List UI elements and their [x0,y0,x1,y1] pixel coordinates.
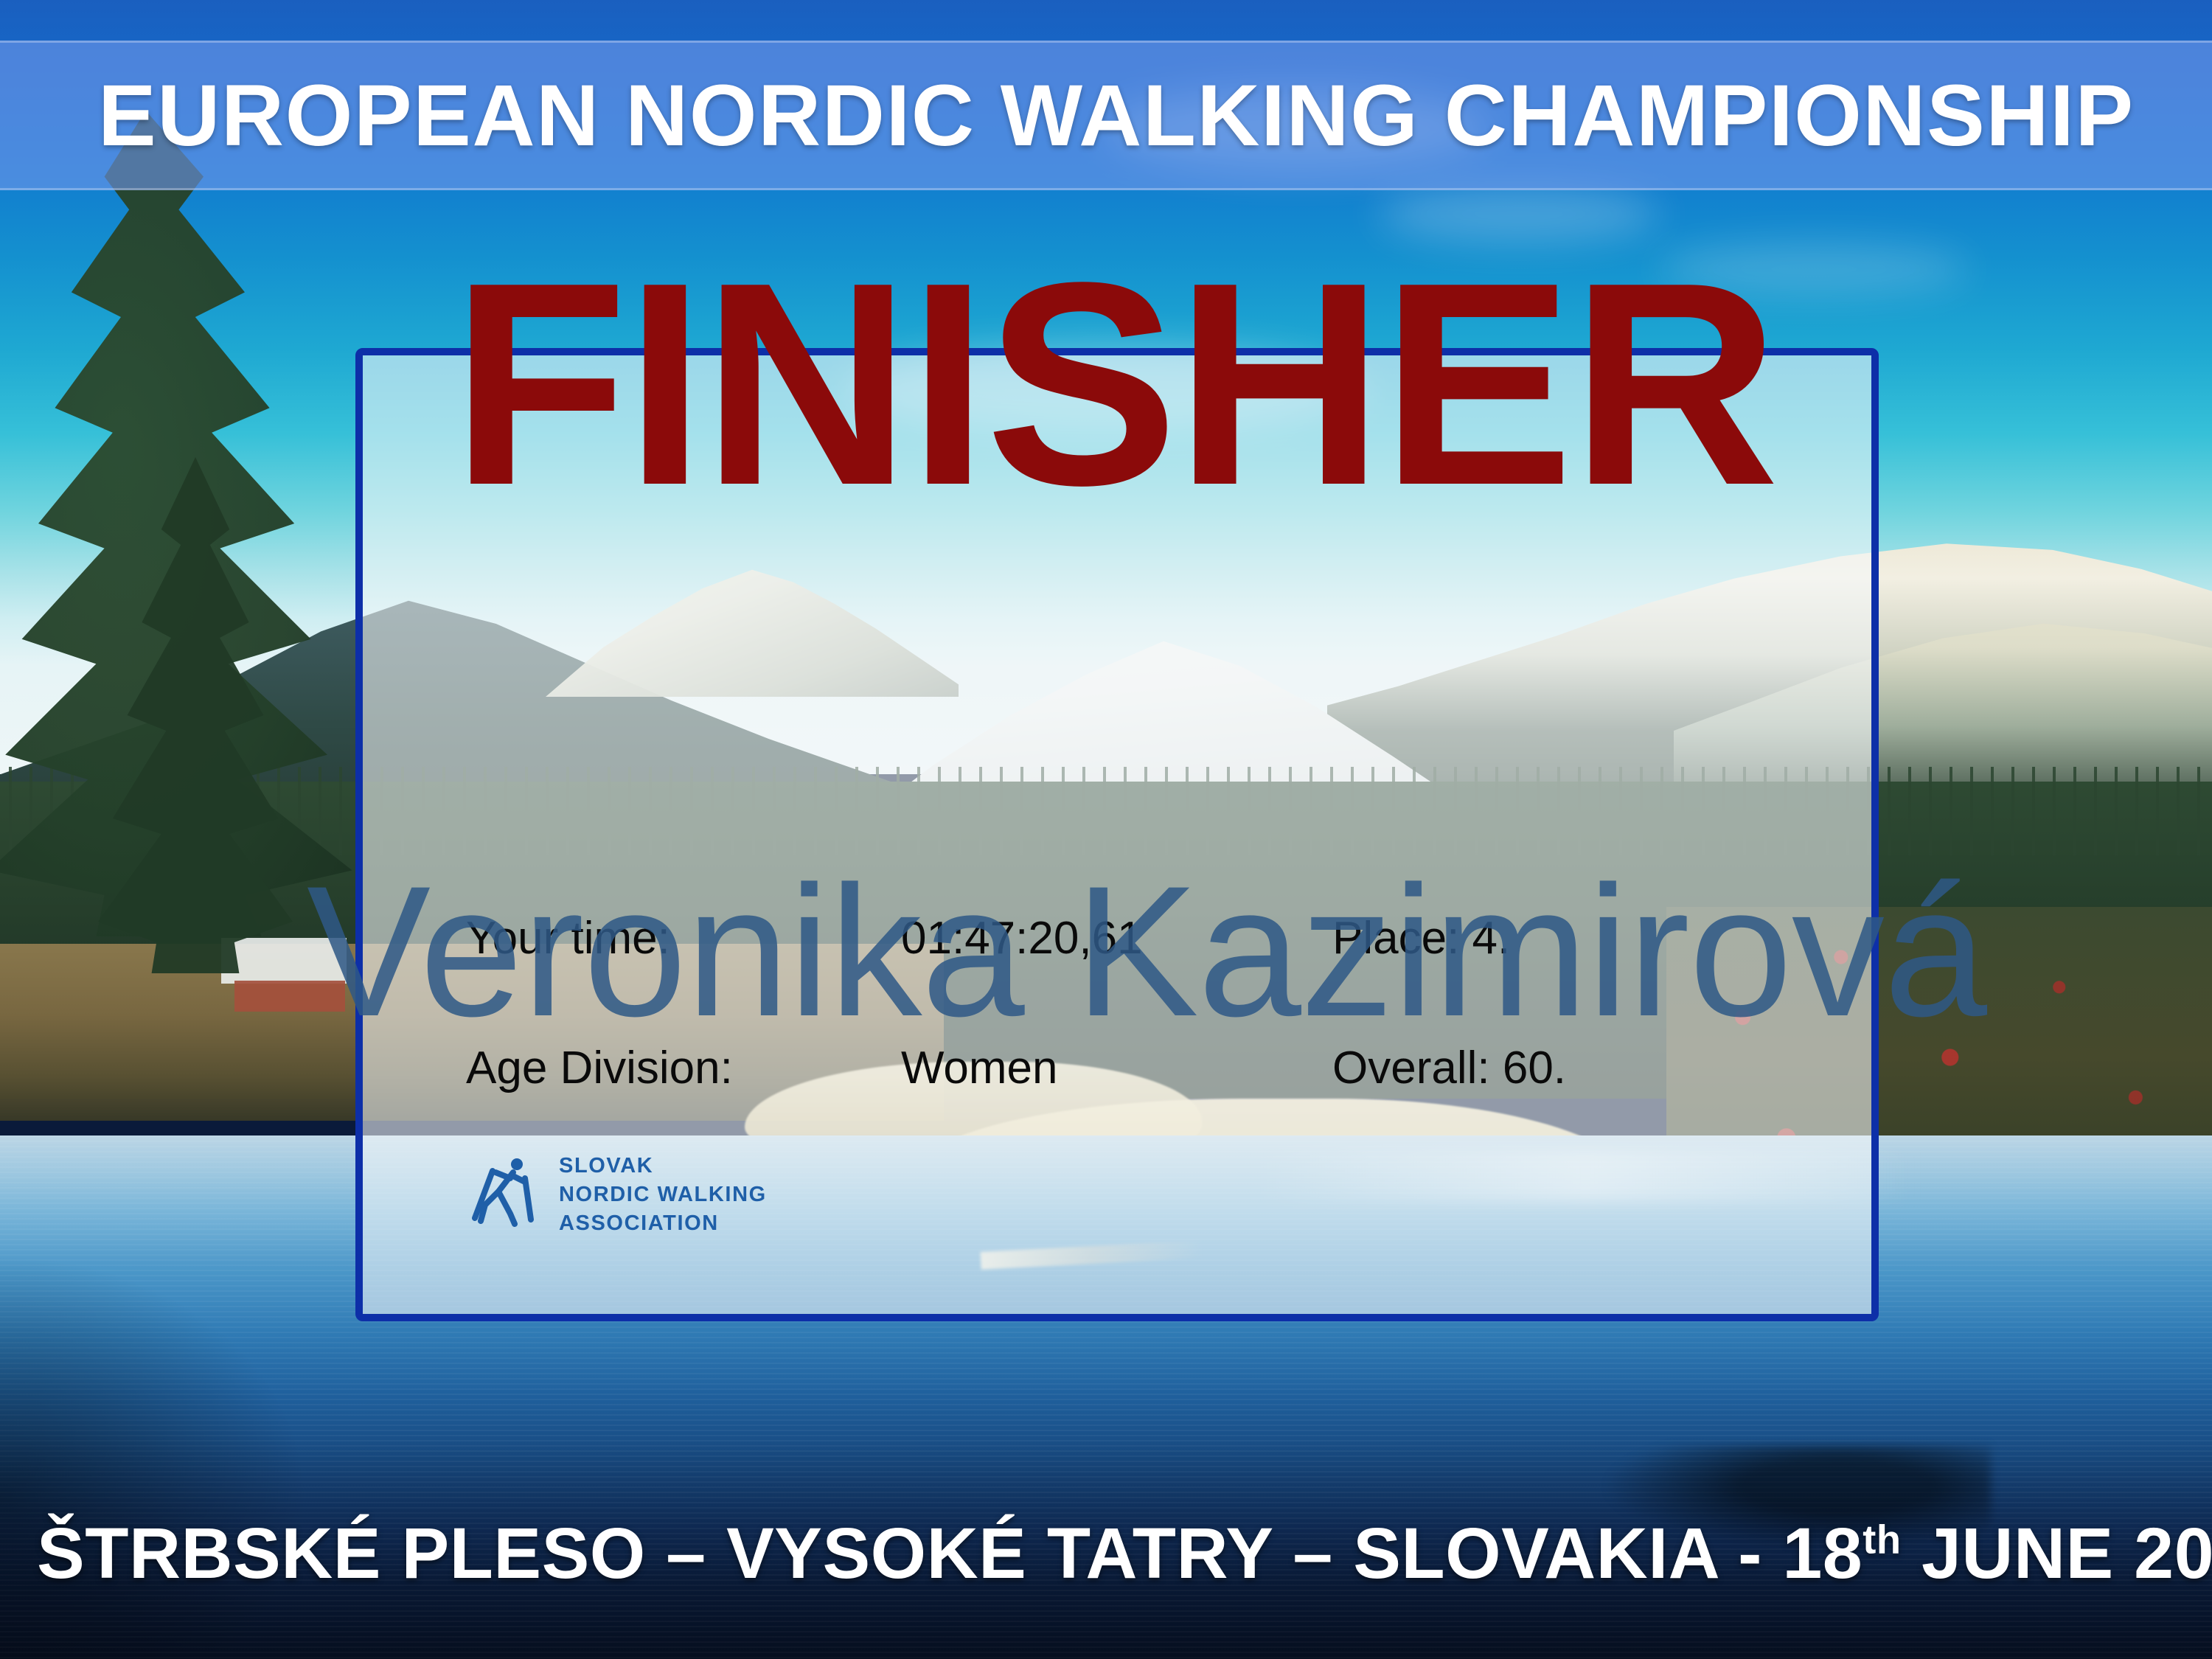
finisher-certificate-card: FINISHER Your time: 01:47:20,61 Place: 4… [355,348,1879,1321]
date-text: JUNE 2016 [1902,1513,2212,1593]
event-header-band: EUROPEAN NORDIC WALKING CHAMPIONSHIP [0,41,2212,190]
logo-line-2: NORDIC WALKING [559,1183,767,1206]
card-content: FINISHER Your time: 01:47:20,61 Place: 4… [363,355,1871,1314]
logo-line-3: ASSOCIATION [559,1211,719,1235]
certificate-canvas: EUROPEAN NORDIC WALKING CHAMPIONSHIP FIN… [0,0,2212,1659]
event-title: EUROPEAN NORDIC WALKING CHAMPIONSHIP [98,72,2135,159]
athlete-name: Veronika Kazimirová [307,859,1986,1045]
logo-line-1: SLOVAK [559,1154,653,1178]
association-name: SLOVAK NORDIC WALKING ASSOCIATION [559,1152,767,1238]
association-logo: SLOVAK NORDIC WALKING ASSOCIATION [466,1152,767,1238]
venue-and-date: ŠTRBSKÉ PLESO – VYSOKÉ TATRY – SLOVAKIA … [37,1517,2212,1589]
finisher-status-title: FINISHER [451,240,1776,529]
day-ordinal-suffix: th [1863,1517,1901,1562]
result-row-division: Age Division: Women Overall: 60. [466,1046,1793,1113]
venue-text: ŠTRBSKÉ PLESO – VYSOKÉ TATRY – SLOVAKIA … [37,1513,1863,1593]
nordic-walker-icon [466,1156,543,1233]
event-footer: ŠTRBSKÉ PLESO – VYSOKÉ TATRY – SLOVAKIA … [0,1509,2212,1597]
